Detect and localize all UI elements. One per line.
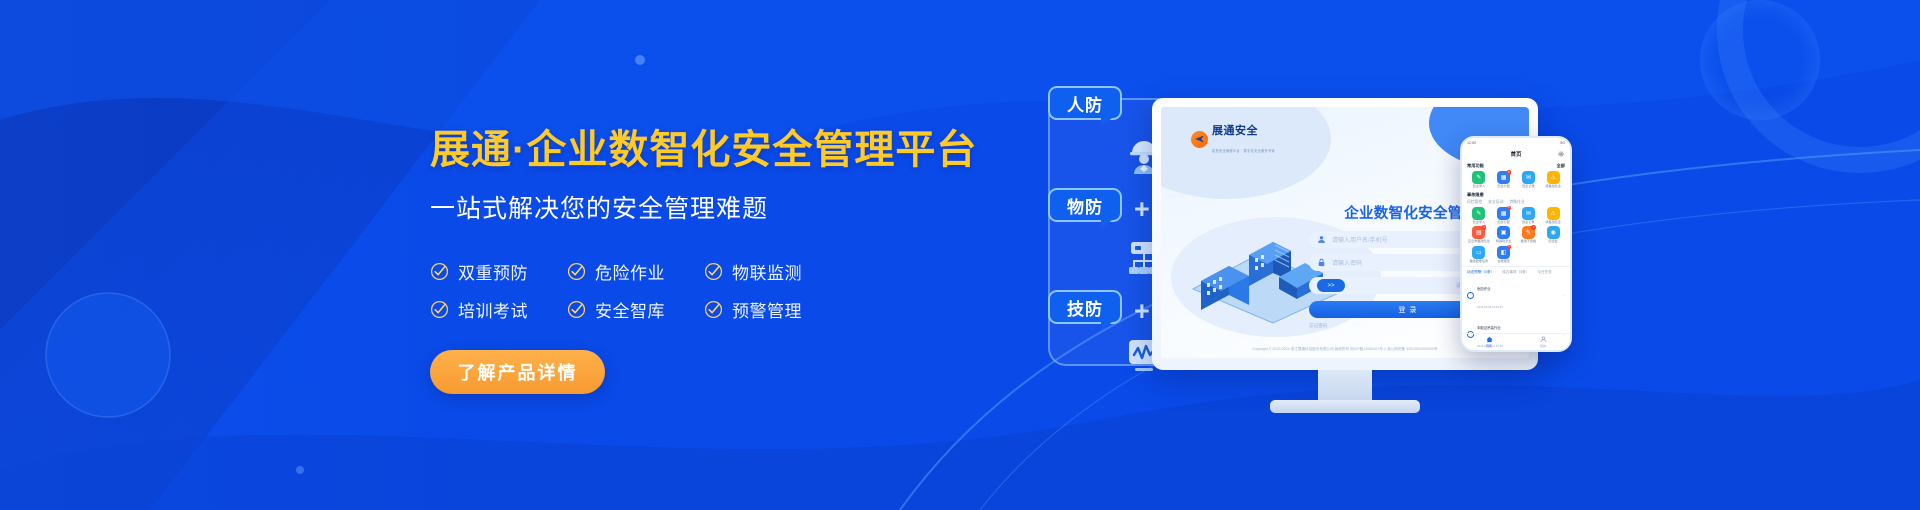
section-title-label: 常用功能 xyxy=(1467,163,1484,169)
check-circle-icon xyxy=(430,300,449,319)
tab-home[interactable]: 首页 xyxy=(1462,334,1516,350)
mobile-phone-mockup: 12:50 5G 首页 常用功能 全部 ✎ 隐患录入 xyxy=(1460,136,1572,352)
phone-hazard-section: 事故隐患 风险管控 安全培训 特殊作业 ✎ 隐患录入 ▦ 6 xyxy=(1462,189,1570,264)
app-label: 隐患录入 xyxy=(1473,221,1485,225)
warning-icon: ⚠ xyxy=(1547,171,1560,184)
common-app-grid: ✎ 隐患录入 ▦ 6 隐患分配 ✉ 隐患记录 ⚠ xyxy=(1467,171,1565,189)
app-tile[interactable]: ◧ 1 台账报查 xyxy=(1492,246,1516,264)
page-subtitle: 一站式解决您的安全管理难题 xyxy=(430,189,1070,225)
phone-tab-bar: 首页 我的 xyxy=(1462,333,1570,350)
edit-icon: ✎ xyxy=(1472,207,1485,220)
hero-banner: 展通·企业数智化安全管理平台 一站式解决您的安全管理难题 双重预防 危险作业 xyxy=(0,0,1920,510)
app-tile[interactable]: ▣ 特殊隐患患 xyxy=(1492,226,1516,244)
status-dot-icon xyxy=(1467,292,1474,299)
feature-label: 危险作业 xyxy=(595,259,665,284)
feature-label: 预警管理 xyxy=(732,297,802,322)
forgot-password-link[interactable]: 忘记密码 xyxy=(1309,323,1327,329)
book-icon: ◧ 1 xyxy=(1497,246,1510,259)
app-tile[interactable]: ▦ 6 隐患分配 xyxy=(1492,171,1516,189)
tab-label: 我的 xyxy=(1540,344,1546,348)
hazard-tabs: 风险管控 安全培训 特殊作业 xyxy=(1467,200,1565,205)
app-tile[interactable]: ✉ 隐患记录 xyxy=(1517,171,1541,189)
hero-copy: 展通·企业数智化安全管理平台 一站式解决您的安全管理难题 双重预防 危险作业 xyxy=(430,128,1070,394)
brand-logo: 展通安全 智慧安全管理平台 · 数字化安全服务专家 xyxy=(1191,121,1275,157)
feature-item: 预警管理 xyxy=(704,297,841,322)
check-icon: ▭ xyxy=(1472,246,1485,259)
app-tile[interactable]: ✉ 隐患记录 xyxy=(1517,207,1541,225)
tab-item[interactable]: 特殊作业 xyxy=(1509,200,1524,205)
feature-list: 双重预防 危险作业 物联监测 xyxy=(430,252,1070,328)
pill-renfang: 人防 xyxy=(1048,86,1122,120)
app-label: 待整改隐患 xyxy=(1545,185,1560,189)
pill-wufang: 物防 xyxy=(1048,188,1122,222)
app-label: 台账报查 xyxy=(1497,260,1509,264)
list-tab[interactable]: 待办事项（0条） xyxy=(1502,270,1529,275)
phone-nav-bar: 首页 xyxy=(1462,147,1570,160)
check-circle-icon xyxy=(704,300,723,319)
app-label: 整改验收任务 xyxy=(1470,260,1489,264)
logo-subtext: 智慧安全管理平台 · 数字化安全服务专家 xyxy=(1212,149,1275,153)
section-title: 事故隐患 xyxy=(1467,192,1565,198)
username-placeholder: 请输入用户名/手机号 xyxy=(1332,235,1388,244)
app-tile[interactable]: ◉ 隐患台 xyxy=(1541,226,1565,244)
app-tile[interactable]: ✎ 隐患录入 xyxy=(1467,171,1491,189)
app-label: 应急未整改隐患 xyxy=(1468,240,1490,244)
section-title: 常用功能 全部 xyxy=(1467,163,1565,169)
section-action-label[interactable]: 全部 xyxy=(1557,163,1565,169)
plus-sign: + xyxy=(1134,196,1150,223)
badge-count: 3 xyxy=(1482,225,1487,230)
chevron-right-icon: › xyxy=(1564,293,1565,298)
app-label: 特殊隐患患 xyxy=(1496,240,1511,244)
pill-jifang: 技防 xyxy=(1048,290,1122,324)
monitor-base xyxy=(1270,400,1420,413)
logo-text: 展通安全 xyxy=(1212,125,1258,137)
reject-icon: ✎ 2 xyxy=(1522,226,1535,239)
app-label: 整改不合格 xyxy=(1521,240,1536,244)
person-icon xyxy=(1540,336,1547,343)
camera-icon: ◉ xyxy=(1547,226,1560,239)
app-label: 隐患台 xyxy=(1548,240,1557,244)
list-tab[interactable]: 动态预警（0条） xyxy=(1467,270,1494,275)
status-time: 12:50 xyxy=(1467,141,1476,145)
app-label: 隐患记录 xyxy=(1522,221,1534,225)
app-label: 隐患分配 xyxy=(1497,221,1509,225)
check-circle-icon xyxy=(567,300,586,319)
record-icon: ✉ xyxy=(1522,207,1535,220)
app-label: 待整改隐患 xyxy=(1545,221,1560,225)
phone-common-section: 常用功能 全部 ✎ 隐患录入 ▦ 6 隐患分配 ✉ xyxy=(1462,160,1570,189)
feature-label: 物联监测 xyxy=(732,259,802,284)
check-circle-icon xyxy=(704,262,723,281)
app-label: 隐患录入 xyxy=(1473,185,1485,189)
assign-icon: ▦ 6 xyxy=(1497,171,1510,184)
app-tile[interactable]: ⚠ 待整改隐患 xyxy=(1541,207,1565,225)
list-item-title: 危险作业 xyxy=(1477,287,1491,291)
badge-count: 6 xyxy=(1507,206,1512,211)
app-label: 隐患分配 xyxy=(1497,185,1509,189)
badge-count: 2 xyxy=(1531,225,1536,230)
feature-item: 双重预防 xyxy=(430,259,567,284)
logo-mark-icon xyxy=(1191,131,1208,148)
check-circle-icon xyxy=(567,262,586,281)
password-placeholder: 请输入密码 xyxy=(1332,258,1362,267)
warning-icon: ⚠ xyxy=(1547,207,1560,220)
badge-count: 1 xyxy=(1507,245,1512,250)
plus-sign: + xyxy=(1134,298,1150,325)
list-tabs: 动态预警（0条） 待办事项（0条） 今日任务 xyxy=(1467,270,1565,275)
app-label: 隐患记录 xyxy=(1522,185,1534,189)
feature-item: 物联监测 xyxy=(704,259,841,284)
page-title: 展通·企业数智化安全管理平台 xyxy=(430,128,1070,172)
app-tile[interactable]: ▤ 3 应急未整改隐患 xyxy=(1467,226,1491,244)
feature-label: 双重预防 xyxy=(458,259,528,284)
device-showcase: 人防 物防 技防 + + xyxy=(1020,60,1870,490)
app-tile[interactable]: ▭ 整改验收任务 xyxy=(1467,246,1491,264)
list-item[interactable]: 危险作业 2024-05-28 11:42:10 › xyxy=(1467,277,1565,313)
feature-label: 安全智库 xyxy=(595,297,665,322)
tab-label: 首页 xyxy=(1486,344,1492,348)
badge-count: 6 xyxy=(1507,170,1512,175)
assign-icon: ▦ 6 xyxy=(1497,207,1510,220)
feature-label: 培训考试 xyxy=(458,297,528,322)
feature-item: 安全智库 xyxy=(567,297,704,322)
feature-item: 危险作业 xyxy=(567,259,704,284)
tab-item[interactable]: 安全培训 xyxy=(1488,200,1503,205)
tab-item[interactable]: 风险管控 xyxy=(1467,200,1482,205)
user-icon xyxy=(1317,235,1326,244)
captcha-handle[interactable]: >> xyxy=(1317,279,1345,292)
gear-icon[interactable] xyxy=(1558,151,1564,157)
phone-nav-title: 首页 xyxy=(1511,150,1522,158)
app-tile[interactable]: ✎ 隐患录入 xyxy=(1467,207,1491,225)
check-circle-icon xyxy=(430,262,449,281)
list-item-title: 未取证吊装作业 xyxy=(1477,326,1501,330)
feature-item: 培训考试 xyxy=(430,297,567,322)
learn-more-button[interactable]: 了解产品详情 xyxy=(430,350,605,394)
list-item-time: 2024-05-28 11:42:10 xyxy=(1477,305,1503,309)
monitor-stand xyxy=(1318,370,1372,402)
home-icon xyxy=(1486,336,1493,343)
record-icon: ✉ xyxy=(1522,171,1535,184)
special-icon: ▣ xyxy=(1497,226,1510,239)
tab-profile[interactable]: 我的 xyxy=(1516,334,1570,350)
edit-icon: ✎ xyxy=(1472,171,1485,184)
list-tab[interactable]: 今日任务 xyxy=(1537,270,1551,275)
section-title-label: 事故隐患 xyxy=(1467,192,1484,198)
app-tile[interactable]: ✎ 2 整改不合格 xyxy=(1517,226,1541,244)
status-signal: 5G xyxy=(1560,141,1565,145)
lock-icon xyxy=(1317,258,1326,267)
alert-icon: ▤ 3 xyxy=(1472,226,1485,239)
app-tile[interactable]: ▦ 6 隐患分配 xyxy=(1492,207,1516,225)
hazard-app-grid: ✎ 隐患录入 ▦ 6 隐患分配 ✉ 隐患记录 ⚠ xyxy=(1467,207,1565,264)
app-tile[interactable]: ⚠ 待整改隐患 xyxy=(1541,171,1565,189)
phone-status-bar: 12:50 5G xyxy=(1462,138,1570,147)
